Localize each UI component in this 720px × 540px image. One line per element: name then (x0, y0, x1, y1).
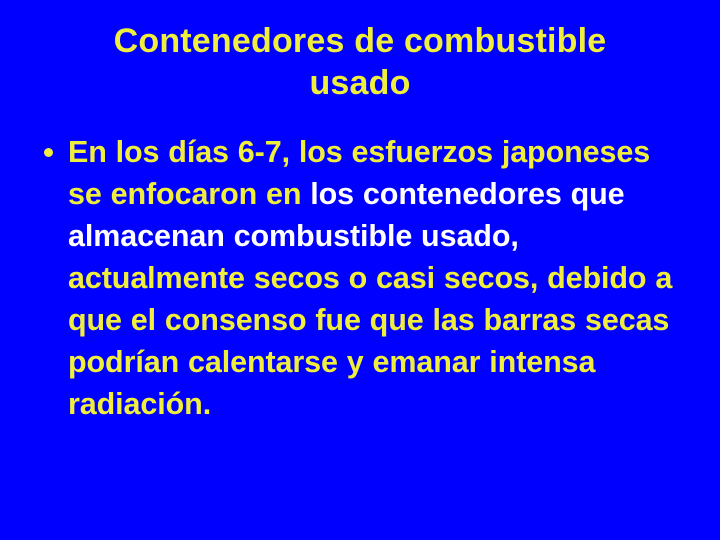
body-paragraph: En los días 6-7, los esfuerzos japoneses… (40, 131, 688, 425)
title-line-1: Contenedores de combustible (36, 20, 684, 62)
list-item: En los días 6-7, los esfuerzos japoneses… (40, 131, 688, 425)
page-title: Contenedores de combustible usado (36, 20, 684, 104)
title-line-2: usado (36, 62, 684, 104)
body-content: En los días 6-7, los esfuerzos japoneses… (40, 131, 688, 425)
bullet-point-icon (44, 148, 53, 157)
slide-canvas: Contenedores de combustible usado En los… (0, 0, 720, 540)
body-run-3: actualmente secos o casi secos, debido a… (68, 261, 672, 421)
